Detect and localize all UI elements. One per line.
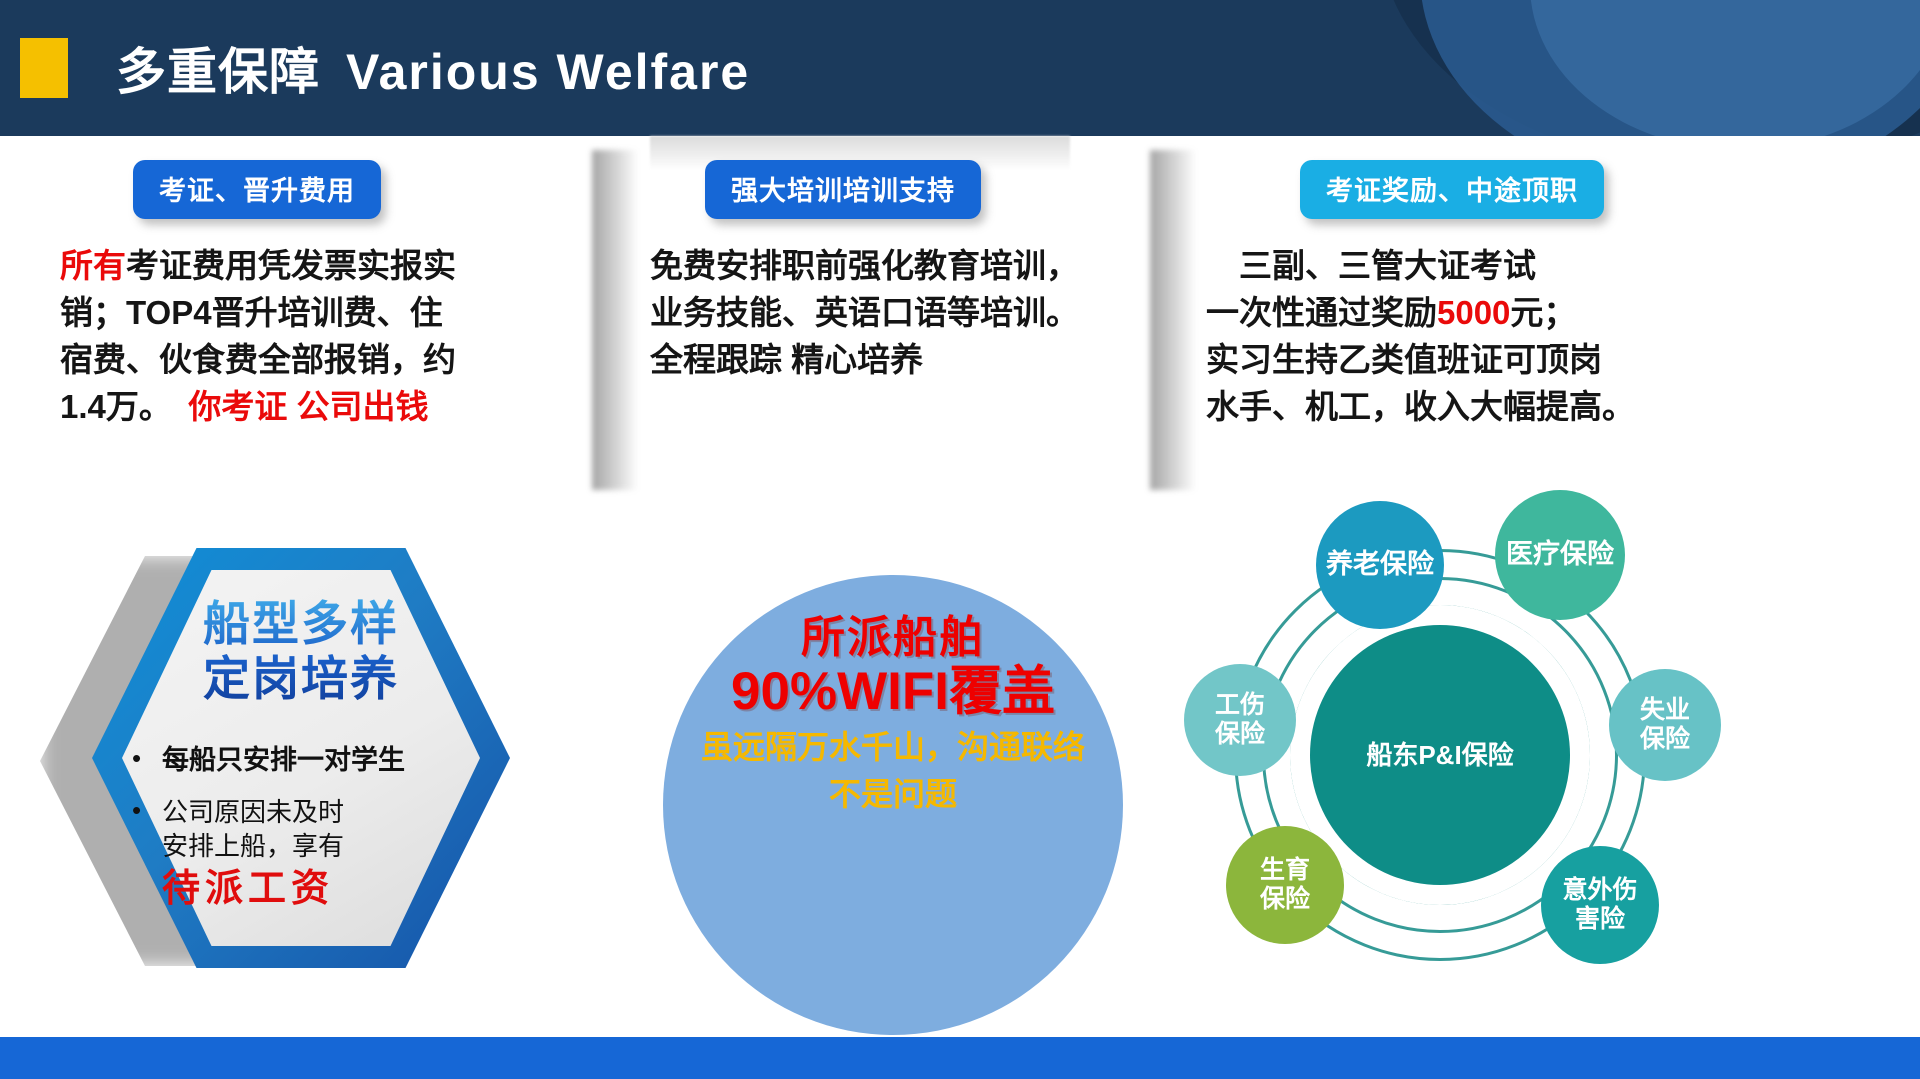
bubble-center-shipowner-pi[interactable]: 船东P&I保险 [1310,625,1570,885]
bubble-label-line-2: 保险 [1215,720,1265,750]
bubble-label-line-2: 害险 [1562,905,1637,935]
text-segment: 元； [1510,294,1576,331]
bubble-label-line-2: 保险 [1260,885,1310,915]
list-item: • 公司原因未及时安排上船，享有 待派工资 [132,796,482,913]
text-segment: 全程跟踪 精心培养 [650,341,923,378]
column-3-line-4: 水手、机工，收入大幅提高。 [1206,384,1730,431]
bullet-dot-icon: • [132,796,162,826]
text-segment: 考证费用凭发票实报实 [126,247,456,284]
hexagon-title-line-2: 定岗培养 [122,651,480,706]
bubble-label: 养老保险 [1326,549,1434,581]
footer-bar [0,1037,1920,1079]
text-segment: 三副、三管大证考试 [1206,247,1536,284]
column-3-line-2: 一次性通过奖励5000元； [1206,290,1730,337]
hexagon-card: 船型多样 定岗培养 • 每船只安排一对学生 • 公司原因未及时安排上船，享有 待… [40,548,510,978]
text-segment: 5000 [1437,294,1510,331]
column-1-line-4: 1.4万。 你考证 公司出钱 [60,384,588,431]
text-segment: 1.4万。 [60,388,155,425]
column-3-badge: 考证奖励、中途顶职 [1300,160,1604,219]
column-1-badge: 考证、晋升费用 [133,160,381,219]
bubble-center-label: 船东P&I保险 [1366,740,1513,771]
bubble-4[interactable]: 失业保险 [1609,669,1721,781]
text-segment: 一次性通过奖励 [1206,294,1437,331]
insurance-bubble-diagram: 船东P&I保险养老保险医疗保险工伤保险失业保险生育保险意外伤害险 [1150,480,1750,1040]
text-segment: 免费安排职前强化教育培训， [650,247,1079,284]
bubble-label-line-1: 失业 [1640,696,1690,726]
bubble-label: 医疗保险 [1506,539,1614,571]
wifi-yellow-line-2: 不是问题 [829,775,957,814]
wifi-red-line-1: 所派船舶 [801,613,985,662]
bubble-label: 失业保险 [1640,696,1690,755]
bubble-label-line-1: 工伤 [1215,691,1265,721]
feature-column-3: 考证奖励、中途顶职 三副、三管大证考试一次性通过奖励5000元；实习生持乙类值班… [1170,160,1730,430]
bubble-3[interactable]: 工伤保险 [1184,664,1296,776]
column-2-line-2: 业务技能、英语口语等培训。 [650,290,1150,337]
hexagon-bullet-1-text: 每船只安排一对学生 [162,744,405,776]
bubble-6[interactable]: 意外伤害险 [1541,846,1659,964]
page-title-en: Various Welfare [346,44,750,100]
column-1-body: 所有考证费用凭发票实报实销；TOP4晋升培训费、住宿费、伙食费全部报销，约1.4… [48,243,588,430]
wifi-circle: 所派船舶 90%WIFI覆盖 虽远隔万水千山，沟通联络 不是问题 [663,575,1123,1035]
text-segment: 实习生持乙类值班证可顶岗 [1206,341,1602,378]
text-segment: 所有 [60,247,126,284]
bubble-2[interactable]: 医疗保险 [1495,490,1625,620]
column-1-line-2: 销；TOP4晋升培训费、住 [60,290,588,337]
wifi-yellow-line-1: 虽远隔万水千山，沟通联络 [693,728,1093,767]
page-title: 多重保障Various Welfare [116,32,750,104]
page-title-cn: 多重保障 [116,44,320,100]
column-1-line-3: 宿费、伙食费全部报销，约 [60,337,588,384]
bubble-label-line-1: 意外伤 [1562,876,1637,906]
column-3-body: 三副、三管大证考试一次性通过奖励5000元；实习生持乙类值班证可顶岗水手、机工，… [1170,243,1730,430]
bullet-dot-icon: • [132,744,162,774]
text-segment: 宿费、伙食费全部报销，约 [60,341,456,378]
text-segment: 业务技能、英语口语等培训。 [650,294,1079,331]
column-3-line-1: 三副、三管大证考试 [1206,243,1730,290]
hexagon-bullet-2-line-1: 公司原因未及时 [162,796,344,829]
yellow-square-icon [20,38,68,98]
bubble-label: 工伤保险 [1215,691,1265,750]
feature-column-1: 考证、晋升费用 所有考证费用凭发票实报实销；TOP4晋升培训费、住宿费、伙食费全… [48,160,588,430]
bubble-5[interactable]: 生育保险 [1226,826,1344,944]
text-segment: 水手、机工，收入大幅提高。 [1206,388,1635,425]
feature-column-2: 强大培训培训支持 免费安排职前强化教育培训，业务技能、英语口语等培训。全程跟踪 … [610,160,1150,384]
bubble-label: 意外伤害险 [1562,876,1637,935]
wifi-red-line-2: 90%WIFI覆盖 [731,662,1055,721]
page-header: 多重保障Various Welfare [0,0,1920,136]
text-segment: 你考证 公司出钱 [155,388,428,425]
bubble-label-line-2: 保险 [1640,725,1690,755]
column-1-line-1: 所有考证费用凭发票实报实 [60,243,588,290]
hexagon-bullet-2-text: 公司原因未及时安排上船，享有 [162,796,344,863]
column-2-badge: 强大培训培训支持 [705,160,981,219]
bubble-label: 生育保险 [1260,856,1310,915]
hexagon-title-line-1: 船型多样 [122,596,480,651]
column-2-line-3: 全程跟踪 精心培养 [650,337,1150,384]
column-2-body: 免费安排职前强化教育培训，业务技能、英语口语等培训。全程跟踪 精心培养 [610,243,1150,384]
column-3-line-3: 实习生持乙类值班证可顶岗 [1206,337,1730,384]
column-2-line-1: 免费安排职前强化教育培训， [650,243,1150,290]
bubble-1[interactable]: 养老保险 [1316,501,1444,629]
hexagon-title: 船型多样 定岗培养 [122,596,480,707]
list-item: • 每船只安排一对学生 [132,744,482,776]
hexagon-bullet-2-line-2: 安排上船，享有 [162,830,344,863]
hexagon-highlight-text: 待派工资 [162,865,344,914]
hexagon-bullet-list: • 每船只安排一对学生 • 公司原因未及时安排上船，享有 待派工资 [132,744,482,934]
text-segment: 销；TOP4晋升培训费、住 [60,294,443,331]
bubble-label-line-1: 生育 [1260,856,1310,886]
